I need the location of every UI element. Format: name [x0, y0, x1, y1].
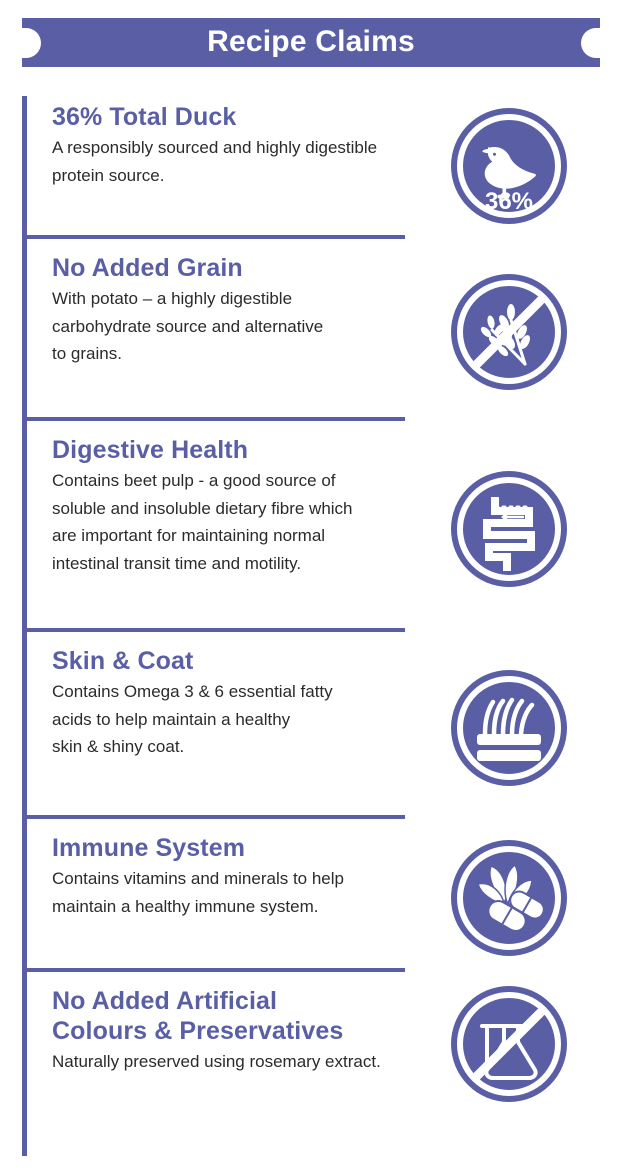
claim-item-digestive-health: Digestive Health Contains beet pulp - a …	[0, 421, 626, 632]
banner-notch-right-icon	[581, 28, 601, 58]
claim-title: Digestive Health	[52, 435, 444, 465]
claim-text-block: No Added Grain With potato – a highly di…	[52, 239, 444, 421]
no-grain-icon	[444, 266, 574, 394]
claim-title: Skin & Coat	[52, 646, 444, 676]
claim-item-skin-and-coat: Skin & Coat Contains Omega 3 & 6 essenti…	[0, 632, 626, 819]
header-banner: Recipe Claims	[22, 18, 600, 67]
leaves-capsules-icon	[444, 832, 574, 960]
banner-notch-left-icon	[21, 28, 41, 58]
claim-text-block: Skin & Coat Contains Omega 3 & 6 essenti…	[52, 632, 444, 819]
claim-title: No Added Grain	[52, 253, 444, 283]
intestine-icon	[444, 463, 574, 591]
claim-text-block: Digestive Health Contains beet pulp - a …	[52, 421, 444, 632]
recipe-claims-panel: Recipe Claims 36% Total Duck A responsib…	[0, 0, 626, 1174]
claim-title: 36% Total Duck	[52, 102, 444, 132]
claim-body: With potato – a highly digestible carboh…	[52, 285, 444, 368]
duck-percentage-label: 36%	[485, 188, 533, 215]
claim-title: Immune System	[52, 833, 444, 863]
claim-item-total-duck: 36% Total Duck A responsibly sourced and…	[0, 88, 626, 239]
claim-body: Contains Omega 3 & 6 essential fatty aci…	[52, 678, 444, 761]
claim-body: Contains vitamins and minerals to help m…	[52, 865, 444, 920]
claim-item-no-added-grain: No Added Grain With potato – a highly di…	[0, 239, 626, 421]
claim-text-block: No Added Artificial Colours & Preservati…	[52, 972, 444, 1112]
claim-title: No Added Artificial Colours & Preservati…	[52, 986, 444, 1046]
duck-badge-icon: 36%	[444, 100, 574, 228]
claim-body: Contains beet pulp - a good source of so…	[52, 467, 444, 577]
claim-body: Naturally preserved using rosemary extra…	[52, 1048, 444, 1076]
page-title: Recipe Claims	[207, 27, 415, 59]
claim-body: A responsibly sourced and highly digesti…	[52, 134, 444, 189]
claims-list: 36% Total Duck A responsibly sourced and…	[0, 88, 626, 1112]
claim-item-no-artificial-colours: No Added Artificial Colours & Preservati…	[0, 972, 626, 1112]
no-chemicals-icon	[444, 978, 574, 1106]
claim-item-immune-system: Immune System Contains vitamins and mine…	[0, 819, 626, 972]
claim-text-block: 36% Total Duck A responsibly sourced and…	[52, 88, 444, 239]
fur-skin-icon	[444, 662, 574, 790]
claim-text-block: Immune System Contains vitamins and mine…	[52, 819, 444, 972]
